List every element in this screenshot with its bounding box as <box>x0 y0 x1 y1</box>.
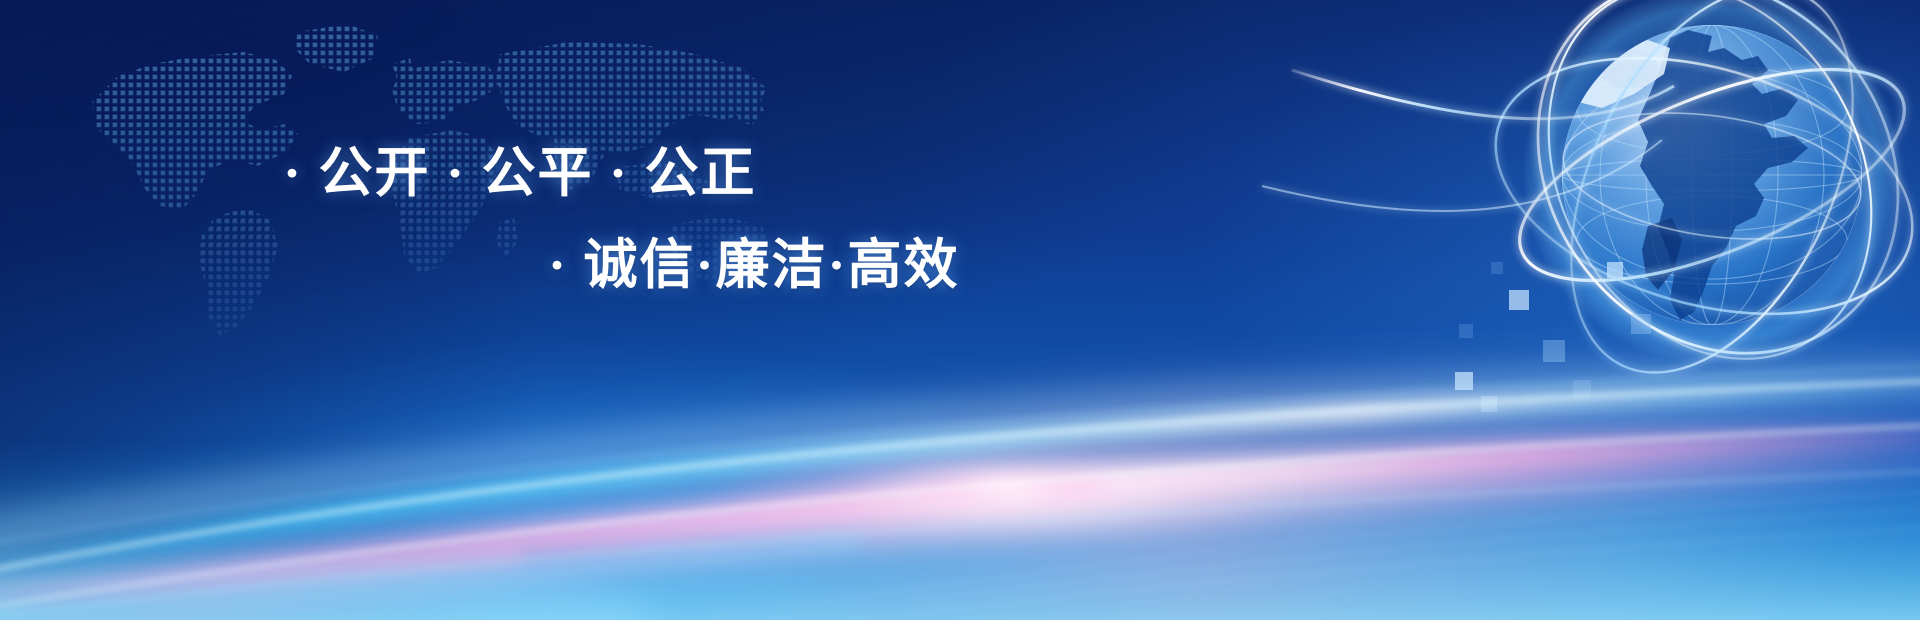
background-gradient <box>0 0 1920 620</box>
banner-root: · 公开 · 公平 · 公正 · 诚信·廉洁·高效 <box>0 0 1920 620</box>
slogan-line-1: · 公开 · 公平 · 公正 <box>283 146 757 200</box>
slogan-line-2: · 诚信·廉洁·高效 <box>548 238 960 292</box>
